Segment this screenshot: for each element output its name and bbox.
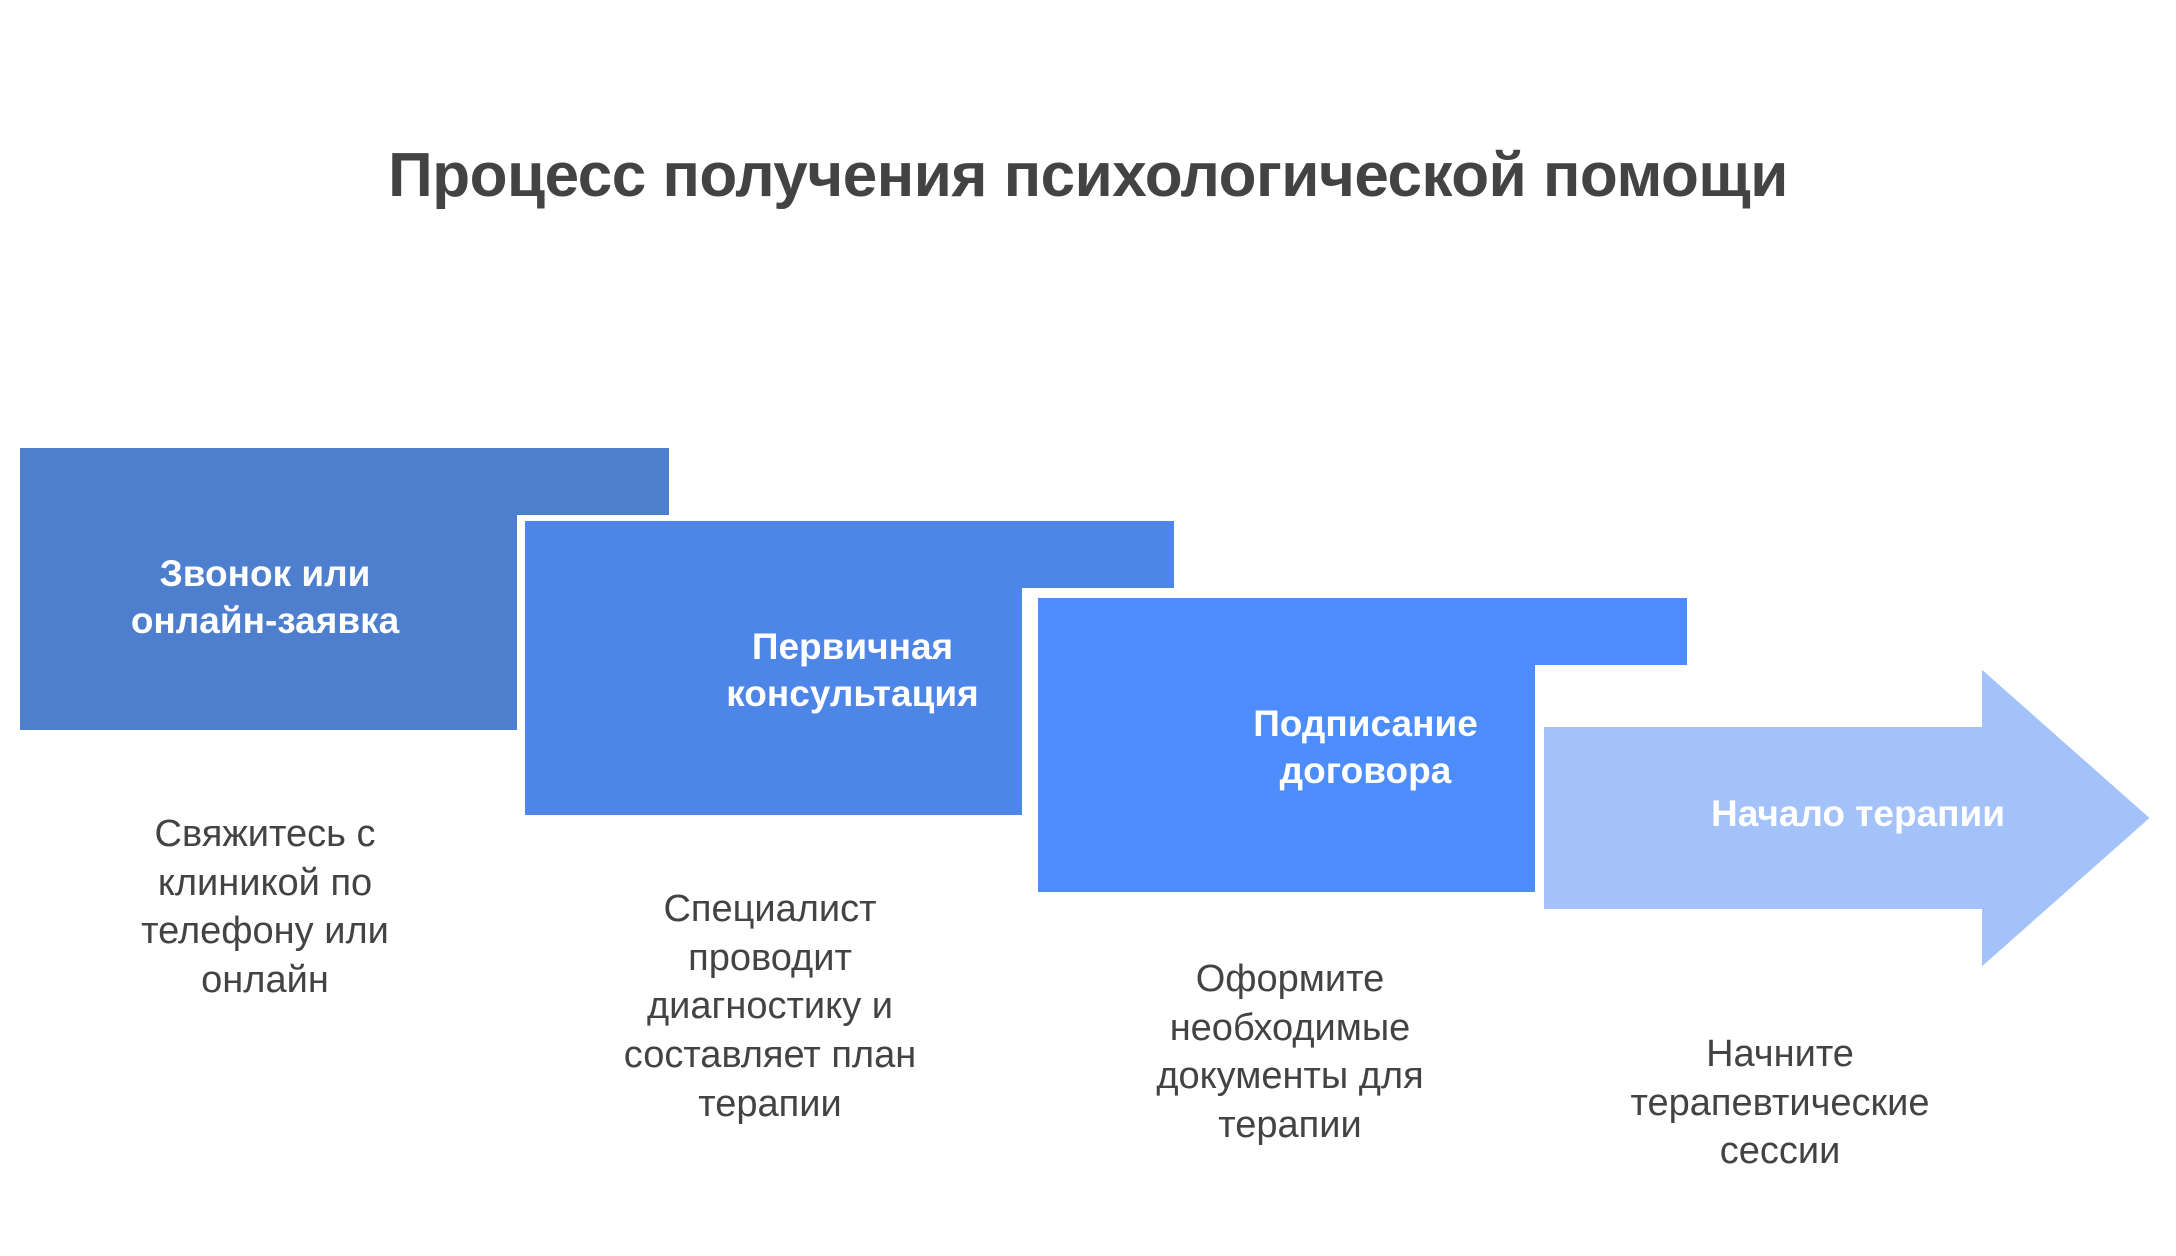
process-stage-4[interactable]: Начало терапии xyxy=(1528,640,2176,990)
slide-canvas: Процесс получения психологической помощи… xyxy=(0,0,2176,1256)
page-title: Процесс получения психологической помощи xyxy=(0,140,2176,211)
stage-1-caption: Свяжитесь с клиникой по телефону или онл… xyxy=(30,810,500,1005)
stage-4-arrow-shape[interactable] xyxy=(1528,640,2176,990)
stage-4-caption: Начните терапевтические сессии xyxy=(1570,1030,1990,1176)
stage-2-caption: Специалист проводит диагностику и состав… xyxy=(560,885,980,1128)
stage-3-caption: Оформите необходимые документы для терап… xyxy=(1080,955,1500,1150)
